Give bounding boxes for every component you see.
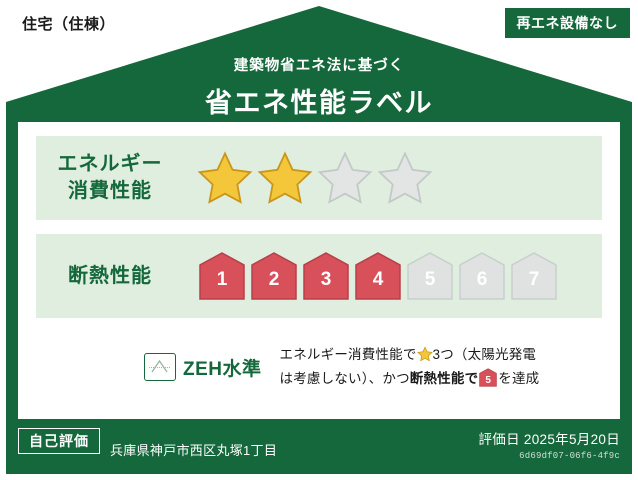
label-card: エネルギー 消費性能 <box>18 122 620 419</box>
zeh-icon-arrow <box>151 359 168 374</box>
grade-chip-1: 1 <box>198 251 246 301</box>
zeh-description: エネルギー消費性能で3つ（太陽光発電 は考慮しない）、かつ断熱性能で5を達成 <box>280 343 540 390</box>
grade-chip-2-number: 2 <box>250 269 298 291</box>
eco-performance-label: 住宅（住棟） 再エネ設備なし 建築物省エネ法に基づく 省エネ性能ラベル エネルギ… <box>0 0 638 480</box>
zeh-description-line1: エネルギー消費性能で3つ（太陽光発電 <box>280 343 540 367</box>
zeh-desc-line1-pre: エネルギー消費性能で <box>280 347 417 362</box>
grade-chip-4-number: 4 <box>354 269 402 291</box>
zeh-desc-line2-pre: は考慮しない）、かつ <box>280 371 410 386</box>
star-icon-filled-2 <box>256 149 314 207</box>
grade-chip-3: 3 <box>302 251 350 301</box>
grade-chip-6-number: 6 <box>458 269 506 291</box>
insulation-performance-value: 1 2 3 4 <box>184 234 602 318</box>
star-icon-empty-3 <box>316 149 374 207</box>
energy-performance-value <box>184 136 602 220</box>
zeh-description-line2: は考慮しない）、かつ断熱性能で5を達成 <box>280 367 540 391</box>
star-rating <box>196 149 434 207</box>
evaluation-id: 6d69df07-06f6-4f9c <box>478 451 620 461</box>
grade-chip-5: 5 <box>406 251 454 301</box>
zeh-icon <box>144 353 176 381</box>
grade-chip-7-number: 7 <box>510 269 558 291</box>
grade-scale: 1 2 3 4 <box>198 251 558 301</box>
zeh-desc-line1-post: 3つ（太陽光発電 <box>433 347 537 362</box>
inline-grade-number: 5 <box>478 372 498 390</box>
property-address: 兵庫県神戸市西区丸塚1丁目 <box>110 440 277 459</box>
grade-chip-1-number: 1 <box>198 269 246 291</box>
insulation-performance-label: 断熱性能 <box>36 263 184 290</box>
grade-chip-2: 2 <box>250 251 298 301</box>
grade-chip-7: 7 <box>510 251 558 301</box>
grade-chip-6: 6 <box>458 251 506 301</box>
star-icon-filled-1 <box>196 149 254 207</box>
grade-chip-3-number: 3 <box>302 269 350 291</box>
zeh-badge: ZEH水準 <box>144 353 262 381</box>
energy-label-line2: 消費性能 <box>36 178 184 205</box>
evaluation-date: 評価日 2025年5月20日 <box>478 428 620 448</box>
inline-grade-chip: 5 <box>478 368 498 387</box>
energy-performance-row: エネルギー 消費性能 <box>36 136 602 220</box>
zeh-desc-line2-bold: 断熱性能で <box>410 371 479 386</box>
footer-right: 評価日 2025年5月20日 6d69df07-06f6-4f9c <box>478 428 620 461</box>
title-main: 省エネ性能ラベル <box>0 81 638 120</box>
zeh-row: ZEH水準 エネルギー消費性能で3つ（太陽光発電 は考慮しない）、かつ断熱性能で… <box>36 330 602 404</box>
label-footer: 自己評価 兵庫県神戸市西区丸塚1丁目 評価日 2025年5月20日 6d69df… <box>18 428 620 470</box>
inline-star-icon <box>417 346 433 362</box>
grade-chip-5-number: 5 <box>406 269 454 291</box>
renewable-energy-badge: 再エネ設備なし <box>505 8 631 38</box>
insulation-performance-row: 断熱性能 1 2 3 <box>36 234 602 318</box>
zeh-label: ZEH水準 <box>183 354 262 381</box>
star-icon-empty-4 <box>376 149 434 207</box>
energy-label-line1: エネルギー <box>36 151 184 178</box>
grade-chip-4: 4 <box>354 251 402 301</box>
label-title: 建築物省エネ法に基づく 省エネ性能ラベル <box>0 54 638 120</box>
building-type-badge: 住宅（住棟） <box>8 8 129 38</box>
self-evaluation-badge: 自己評価 <box>18 428 100 454</box>
energy-performance-label: エネルギー 消費性能 <box>36 151 184 205</box>
zeh-desc-line2-post: を達成 <box>498 371 539 386</box>
title-subtitle: 建築物省エネ法に基づく <box>0 54 638 75</box>
